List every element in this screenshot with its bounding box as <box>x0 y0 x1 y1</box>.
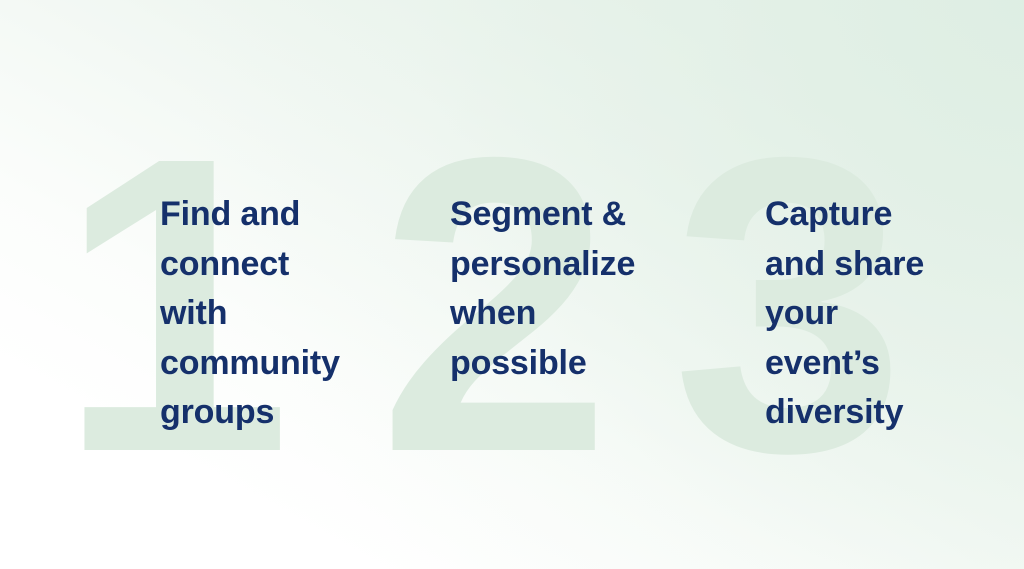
step-text-3-line-3: your <box>765 289 980 339</box>
step-text-1-line-1: Find and <box>160 190 370 240</box>
step-text-2: Segment & personalize when possible <box>450 190 660 388</box>
step-text-2-line-1: Segment & <box>450 190 660 240</box>
step-text-3: Capture and share your event’s diversity <box>765 190 980 438</box>
step-text-1-line-4: community <box>160 339 370 389</box>
step-text-3-line-5: diversity <box>765 388 980 438</box>
step-text-2-line-4: possible <box>450 339 660 389</box>
step-text-3-line-2: and share <box>765 240 980 290</box>
step-text-2-line-2: personalize <box>450 240 660 290</box>
step-text-1-line-2: connect <box>160 240 370 290</box>
step-text-3-line-1: Capture <box>765 190 980 240</box>
step-text-1-line-5: groups <box>160 388 370 438</box>
step-text-1-line-3: with <box>160 289 370 339</box>
step-text-1: Find and connect with community groups <box>160 190 370 438</box>
step-text-3-line-4: event’s <box>765 339 980 389</box>
step-text-2-line-3: when <box>450 289 660 339</box>
slide-canvas: 1 2 3 Find and connect with community gr… <box>0 0 1024 569</box>
